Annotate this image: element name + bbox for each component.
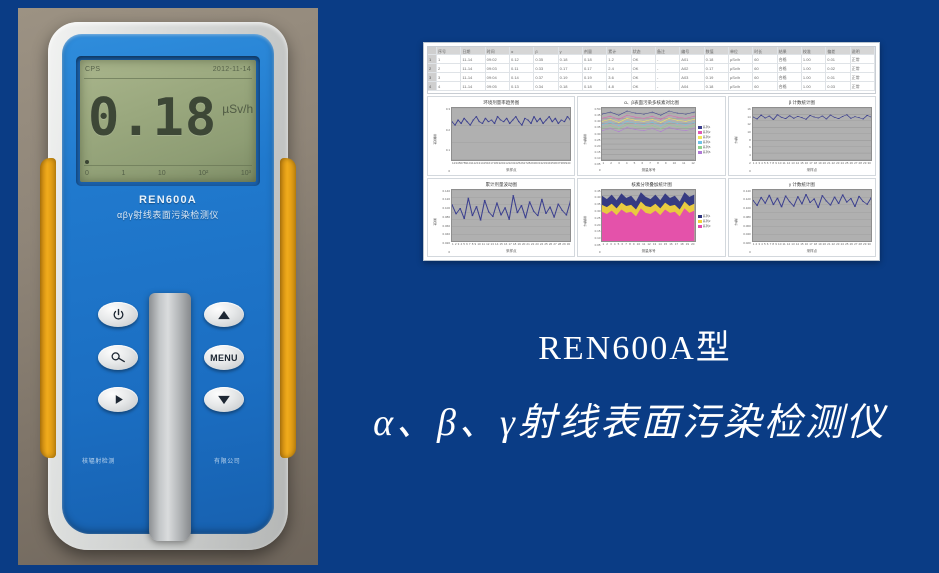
chart-legend-swatch — [698, 225, 702, 228]
table-cell[interactable]: 09:05 — [486, 82, 510, 90]
chart-y-axis-label: 剂量率 — [431, 107, 437, 173]
chart-y-tick: 0.100 — [738, 206, 751, 210]
table-cell[interactable]: 4.8 — [607, 82, 631, 90]
chart-legend-label: 系列2 — [703, 219, 711, 223]
chart-y-tick: 0 — [587, 250, 600, 254]
chart-x-axis-label: 测量序号 — [601, 167, 695, 173]
table-cell[interactable]: 0.19 — [705, 73, 729, 81]
table-cell[interactable]: A01 — [680, 55, 704, 63]
chart-y-tick: 0.020 — [738, 241, 751, 245]
table-cell[interactable]: 09:04 — [486, 73, 510, 81]
chart-title: 核素分项叠加统计图 — [581, 181, 721, 189]
chart-y-tick: 0 — [738, 250, 751, 254]
table-cell[interactable]: µSv/h — [729, 73, 753, 81]
table-cell[interactable]: µSv/h — [729, 55, 753, 63]
table-column-header[interactable]: 时间 — [486, 47, 510, 54]
chart-plot-area — [752, 189, 872, 243]
product-model-title: REN600A型 — [330, 320, 930, 369]
lcd-scale-tick: 1 — [121, 170, 125, 177]
chart-legend: 系列1系列2系列3系列4系列5系列6 — [696, 107, 722, 173]
table-cell[interactable]: 1.00 — [802, 55, 826, 63]
lcd-divider-bottom — [84, 165, 252, 166]
chart-y-ticks: 0.30.20.10 — [437, 107, 451, 173]
chart-card[interactable]: 核素分项叠加统计图计数率0.450.400.350.300.250.200.15… — [577, 178, 725, 258]
chart-x-axis-label: 采样点 — [451, 167, 571, 173]
table-cell[interactable]: 正常 — [851, 55, 875, 63]
table-cell[interactable]: 0.17 — [705, 64, 729, 72]
chart-y-tick: 0.3 — [437, 107, 450, 111]
table-cell[interactable]: 0.03 — [826, 82, 850, 90]
chart-card[interactable]: 环境剂量率趋势图剂量率0.30.20.101234567891011121314… — [427, 96, 575, 176]
chart-legend-swatch — [698, 136, 702, 139]
chart-legend-swatch — [698, 131, 702, 134]
table-row-header: 3 — [428, 73, 437, 81]
table-cell[interactable]: 1 — [437, 55, 461, 63]
chart-y-tick: 0.35 — [587, 125, 600, 129]
chart-y-tick: 0.20 — [587, 144, 600, 148]
table-cell[interactable]: 0.18 — [705, 55, 729, 63]
lcd-scale-tick: 10³ — [241, 170, 251, 177]
table-cell[interactable]: 0.02 — [826, 64, 850, 72]
table-column-header[interactable]: β — [534, 47, 558, 54]
chart-title: 累计剂量波动图 — [431, 181, 571, 189]
table-cell[interactable]: 0.18 — [559, 55, 583, 63]
table-column-header[interactable]: 编号 — [680, 47, 704, 54]
chart-legend-item[interactable]: 系列6 — [698, 150, 722, 154]
lcd-scale-tick: 0 — [85, 170, 89, 177]
chart-y-tick: 0 — [437, 250, 450, 254]
table-column-header[interactable]: 累计 — [607, 47, 631, 54]
chart-y-tick: 0.40 — [587, 195, 600, 199]
table-cell[interactable]: 11-14 — [461, 73, 485, 81]
chart-body: 剂量0.1400.1200.1000.0800.0600.0400.020012… — [431, 189, 571, 255]
table-cell[interactable]: 2.4 — [607, 64, 631, 72]
chart-legend-item[interactable]: 系列1 — [698, 125, 722, 129]
table-cell[interactable]: 正常 — [851, 82, 875, 90]
chart-y-tick: 0.20 — [587, 223, 600, 227]
table-column-header[interactable]: 单位 — [729, 47, 753, 54]
chart-plot-area — [451, 189, 571, 243]
table-column-header[interactable]: α — [510, 47, 534, 54]
chart-y-tick: 0.05 — [587, 243, 600, 247]
lcd-bezel: CPS 2012-11-14 0.18 µSv/h 011010²10³ — [76, 56, 260, 186]
table-column-header[interactable]: 剂量 — [583, 47, 607, 54]
chart-plot-wrap: 123456789101112测量序号 — [601, 107, 695, 173]
chart-title: 环境剂量率趋势图 — [431, 99, 571, 107]
table-row[interactable]: 3311-1409:040.140.370.190.193.6OK-A030.1… — [428, 73, 875, 82]
chart-y-tick: 0 — [738, 169, 751, 173]
table-column-header[interactable]: 说明 — [851, 47, 875, 54]
table-cell[interactable]: 0.01 — [826, 55, 850, 63]
chart-x-axis-label: 采样点 — [752, 167, 872, 173]
table-cell[interactable]: 09:03 — [486, 64, 510, 72]
chart-y-tick: 0.35 — [587, 202, 600, 206]
chart-y-tick: 0.10 — [587, 156, 600, 160]
table-column-header[interactable]: 时长 — [753, 47, 777, 54]
chart-legend-label: 系列4 — [703, 140, 711, 144]
chart-legend-label: 系列1 — [703, 214, 711, 218]
chart-y-tick: 16 — [738, 107, 751, 111]
chart-y-tick: 0.05 — [587, 162, 600, 166]
chart-y-ticks: 0.1400.1200.1000.0800.0600.0400.0200 — [437, 189, 451, 255]
table-cell[interactable]: OK — [632, 64, 656, 72]
lcd-indicator-dot — [85, 160, 89, 164]
table-row[interactable]: 4411-1409:050.130.340.180.184.8OK-A040.1… — [428, 82, 875, 91]
chart-y-tick: 0.2 — [437, 128, 450, 132]
table-cell[interactable]: 3 — [437, 73, 461, 81]
play-button[interactable] — [98, 387, 138, 412]
table-cell[interactable]: 11-14 — [461, 82, 485, 90]
charts-grid: 环境剂量率趋势图剂量率0.30.20.101234567891011121314… — [427, 96, 876, 257]
device-photo: CPS 2012-11-14 0.18 µSv/h 011010²10³ REN… — [18, 8, 318, 565]
table-cell[interactable]: 合格 — [778, 73, 802, 81]
table-cell[interactable]: 0.33 — [534, 64, 558, 72]
chart-y-tick: 0.060 — [738, 224, 751, 228]
chart-plot-area — [601, 107, 695, 161]
chart-legend-item[interactable]: 系列3 — [698, 224, 722, 228]
chart-y-tick: 0.140 — [437, 189, 450, 193]
chart-legend-swatch — [698, 146, 702, 149]
table-cell[interactable]: 0.13 — [510, 82, 534, 90]
table-row[interactable]: 1111-1409:020.120.350.180.181.2OK-A010.1… — [428, 55, 875, 64]
chart-y-tick: 10 — [738, 130, 751, 134]
chart-body: 计数0.1400.1200.1000.0800.0600.0400.020012… — [732, 189, 872, 255]
table-cell[interactable]: - — [656, 82, 680, 90]
chart-legend-item[interactable]: 系列5 — [698, 145, 722, 149]
chart-y-tick: 0.1 — [437, 148, 450, 152]
chart-y-tick: 0.50 — [587, 107, 600, 111]
chart-y-tick: 0.30 — [587, 132, 600, 136]
chart-y-ticks: 1614121086420 — [738, 107, 752, 173]
table-cell[interactable]: - — [656, 64, 680, 72]
chart-y-tick: 0.10 — [587, 236, 600, 240]
table-cell[interactable]: 11-14 — [461, 64, 485, 72]
device-model-sublabel: αβγ射线表面污染检测仪 — [66, 208, 270, 221]
chart-legend-label: 系列5 — [703, 145, 711, 149]
table-column-header[interactable]: 偏差 — [826, 47, 850, 54]
table-column-header[interactable]: 校准 — [802, 47, 826, 54]
table-header-row: 序号日期时间αβγ剂量累计状态备注编号数值单位时长结果校准偏差说明 — [428, 47, 875, 55]
chart-plot-wrap: 1234567891011121314151617181920212223242… — [451, 189, 571, 255]
table-cell[interactable]: - — [656, 55, 680, 63]
lcd-unit: µSv/h — [222, 102, 253, 116]
chart-card[interactable]: 累计剂量波动图剂量0.1400.1200.1000.0800.0600.0400… — [427, 178, 575, 258]
table-cell[interactable]: µSv/h — [729, 82, 753, 90]
table-row-header: 1 — [428, 55, 437, 63]
chart-legend-item[interactable]: 系列1 — [698, 214, 722, 218]
table-cell[interactable]: 60 — [753, 55, 777, 63]
product-description-title: α、β、γ射线表面污染检测仪 — [330, 391, 930, 446]
chart-y-tick: 0.30 — [587, 209, 600, 213]
software-screenshot-panel: 序号日期时间αβγ剂量累计状态备注编号数值单位时长结果校准偏差说明1111-14… — [423, 42, 880, 261]
table-cell[interactable]: 0.14 — [510, 73, 534, 81]
chart-y-tick: 0 — [587, 168, 600, 172]
table-column-header[interactable]: 备注 — [656, 47, 680, 54]
table-cell[interactable]: 合格 — [778, 82, 802, 90]
chart-plot-wrap: 1234567891011121314151617181920212223242… — [752, 107, 872, 173]
chart-y-tick: 0.15 — [587, 229, 600, 233]
title-block: REN600A型 α、β、γ射线表面污染检测仪 — [330, 320, 930, 446]
table-column-header[interactable]: 结果 — [778, 47, 802, 54]
chart-y-tick: 0.25 — [587, 138, 600, 142]
chart-y-axis-label: 计数率 — [581, 189, 587, 255]
chart-y-tick: 0.120 — [738, 197, 751, 201]
play-icon — [112, 393, 125, 406]
table-cell[interactable]: 1.00 — [802, 73, 826, 81]
chart-legend-swatch — [698, 151, 702, 154]
table-column-header[interactable]: 状态 — [632, 47, 656, 54]
power-icon — [112, 308, 125, 321]
table-cell[interactable]: 0.17 — [583, 64, 607, 72]
device-grip-left — [40, 158, 56, 458]
table-cell[interactable]: 0.17 — [559, 64, 583, 72]
chart-y-axis-label: 计数 — [732, 107, 738, 173]
chart-legend-label: 系列3 — [703, 135, 711, 139]
chart-title: α、β表面污染多核素对比图 — [581, 99, 721, 107]
lcd-reading: 0.18 µSv/h — [88, 82, 250, 154]
chart-y-axis-label: 计数率 — [581, 107, 587, 173]
table-cell[interactable]: 09:02 — [486, 55, 510, 63]
chart-y-axis-label: 计数 — [732, 189, 738, 255]
table-cell[interactable]: 0.18 — [583, 55, 607, 63]
table-cell[interactable]: OK — [632, 82, 656, 90]
lcd-status-bar: CPS 2012-11-14 — [85, 63, 251, 76]
table-cell[interactable]: 0.19 — [559, 73, 583, 81]
table-cell[interactable]: 1.00 — [802, 82, 826, 90]
chart-title: β 计数统计图 — [732, 99, 872, 107]
table-cell[interactable]: 0.35 — [534, 55, 558, 63]
chart-y-tick: 0.040 — [738, 232, 751, 236]
table-corner-cell — [428, 47, 437, 54]
table-cell[interactable]: A04 — [680, 82, 704, 90]
chart-card[interactable]: γ 计数统计图计数0.1400.1200.1000.0800.0600.0400… — [728, 178, 876, 258]
table-cell[interactable]: 0.19 — [583, 73, 607, 81]
lcd-screen: CPS 2012-11-14 0.18 µSv/h 011010²10³ — [80, 60, 256, 182]
table-row-header: 2 — [428, 64, 437, 72]
chart-body: 剂量率0.30.20.10123456789101112131415161718… — [431, 107, 571, 173]
triangle-up-icon — [217, 309, 231, 321]
chart-card[interactable]: α、β表面污染多核素对比图计数率0.500.450.400.350.300.25… — [577, 96, 725, 176]
chart-card[interactable]: β 计数统计图计数1614121086420123456789101112131… — [728, 96, 876, 176]
chart-y-tick: 0.140 — [738, 189, 751, 193]
chart-legend-item[interactable]: 系列4 — [698, 140, 722, 144]
chart-y-tick: 0.15 — [587, 150, 600, 154]
table-cell[interactable]: 4 — [437, 82, 461, 90]
table-cell[interactable]: 1.2 — [607, 55, 631, 63]
chart-legend-item[interactable]: 系列2 — [698, 219, 722, 223]
table-cell[interactable]: 1.00 — [802, 64, 826, 72]
table-cell[interactable]: 0.18 — [559, 82, 583, 90]
table-cell[interactable]: 0.11 — [510, 64, 534, 72]
table-cell[interactable]: OK — [632, 73, 656, 81]
up-button[interactable] — [204, 302, 244, 327]
magnifier-icon — [111, 351, 126, 364]
chart-legend-item[interactable]: 系列2 — [698, 130, 722, 134]
chart-title: γ 计数统计图 — [732, 181, 872, 189]
chart-y-tick: 2 — [738, 161, 751, 165]
chart-y-tick: 0.25 — [587, 216, 600, 220]
chart-y-tick: 0.080 — [738, 215, 751, 219]
chart-y-axis-label: 剂量 — [431, 189, 437, 255]
chart-legend-label: 系列1 — [703, 125, 711, 129]
table-cell[interactable]: 0.37 — [534, 73, 558, 81]
device-grip-right — [280, 158, 296, 458]
table-cell[interactable]: 0.12 — [510, 55, 534, 63]
table-cell[interactable]: A02 — [680, 64, 704, 72]
search-button[interactable] — [98, 345, 138, 370]
table-cell[interactable]: 0.01 — [826, 73, 850, 81]
table-cell[interactable]: 60 — [753, 73, 777, 81]
chart-legend-swatch — [698, 220, 702, 223]
chart-plot-area — [601, 189, 695, 243]
table-row-header: 4 — [428, 82, 437, 90]
chart-y-tick: 4 — [738, 153, 751, 157]
down-button[interactable] — [204, 387, 244, 412]
chart-y-tick: 0.040 — [437, 232, 450, 236]
chart-legend-label: 系列3 — [703, 224, 711, 228]
table-cell[interactable]: 2 — [437, 64, 461, 72]
table-cell[interactable]: 正常 — [851, 73, 875, 81]
chart-x-axis-label: 采样点 — [451, 248, 571, 254]
data-sheet-table[interactable]: 序号日期时间αβγ剂量累计状态备注编号数值单位时长结果校准偏差说明1111-14… — [427, 46, 876, 94]
chart-body: 计数率0.450.400.350.300.250.200.150.100.050… — [581, 189, 721, 255]
chart-legend-item[interactable]: 系列3 — [698, 135, 722, 139]
chart-y-tick: 6 — [738, 145, 751, 149]
power-button[interactable] — [98, 302, 138, 327]
chart-legend-swatch — [698, 141, 702, 144]
lcd-scale-tick: 10² — [198, 170, 208, 177]
chart-legend-swatch — [698, 126, 702, 129]
table-row[interactable]: 2211-1409:030.110.330.170.172.4OK-A020.1… — [428, 64, 875, 73]
chart-y-tick: 0.45 — [587, 189, 600, 193]
chart-y-tick: 8 — [738, 138, 751, 142]
chart-legend-label: 系列2 — [703, 130, 711, 134]
chart-legend: 系列1系列2系列3 — [696, 189, 722, 255]
table-column-header[interactable]: γ — [559, 47, 583, 54]
lcd-divider-top — [84, 78, 252, 79]
chart-y-ticks: 0.450.400.350.300.250.200.150.100.050 — [587, 189, 601, 255]
table-cell[interactable]: 0.34 — [534, 82, 558, 90]
device-footer-left: 核辐射检测 — [82, 456, 115, 465]
chart-y-tick: 14 — [738, 115, 751, 119]
triangle-down-icon — [217, 394, 231, 406]
chart-y-tick: 0.45 — [587, 113, 600, 117]
chart-y-tick: 0.120 — [437, 197, 450, 201]
chart-legend-label: 系列6 — [703, 150, 711, 154]
chart-x-axis-label: 采样点 — [752, 248, 872, 254]
chart-y-tick: 0.40 — [587, 119, 600, 123]
chart-y-tick: 0.100 — [437, 206, 450, 210]
table-cell[interactable]: 11-14 — [461, 55, 485, 63]
table-cell[interactable]: 合格 — [778, 55, 802, 63]
lcd-status-left: CPS — [85, 66, 100, 73]
chart-y-ticks: 0.500.450.400.350.300.250.200.150.100.05… — [587, 107, 601, 173]
chart-y-tick: 12 — [738, 122, 751, 126]
chart-plot-area — [451, 107, 571, 161]
table-column-header[interactable]: 序号 — [437, 47, 461, 54]
device-handle-strap — [149, 293, 191, 541]
table-cell[interactable]: 0.18 — [583, 82, 607, 90]
device-footer-right: 有限公司 — [214, 456, 240, 465]
menu-button-label: MENU — [210, 353, 238, 363]
chart-y-tick: 0.080 — [437, 215, 450, 219]
chart-body: 计数16141210864201234567891011121314151617… — [732, 107, 872, 173]
chart-x-axis-label: 测量序号 — [601, 248, 695, 254]
chart-y-tick: 0 — [437, 169, 450, 173]
table-cell[interactable]: 60 — [753, 82, 777, 90]
table-cell[interactable]: 60 — [753, 64, 777, 72]
chart-legend-swatch — [698, 215, 702, 218]
table-cell[interactable]: 正常 — [851, 64, 875, 72]
chart-plot-wrap: 1234567891011121314151617181920212223242… — [451, 107, 571, 173]
chart-body: 计数率0.500.450.400.350.300.250.200.150.100… — [581, 107, 721, 173]
table-cell[interactable]: 合格 — [778, 64, 802, 72]
table-column-header[interactable]: 日期 — [461, 47, 485, 54]
chart-plot-area — [752, 107, 872, 161]
lcd-value: 0.18 — [88, 92, 217, 144]
chart-y-ticks: 0.1400.1200.1000.0800.0600.0400.0200 — [738, 189, 752, 255]
lcd-scale-tick: 10 — [158, 170, 166, 177]
chart-y-tick: 0.020 — [437, 241, 450, 245]
table-cell[interactable]: - — [656, 73, 680, 81]
table-cell[interactable]: 0.18 — [705, 82, 729, 90]
chart-y-tick: 0.060 — [437, 224, 450, 228]
table-cell[interactable]: 3.6 — [607, 73, 631, 81]
lcd-status-right: 2012-11-14 — [213, 66, 251, 73]
chart-plot-wrap: 1234567891011121314151617181920测量序号 — [601, 189, 695, 255]
table-cell[interactable]: OK — [632, 55, 656, 63]
device-model-label: REN600A — [76, 194, 260, 206]
lcd-scale: 011010²10³ — [85, 167, 251, 180]
menu-button[interactable]: MENU — [204, 345, 244, 370]
chart-plot-wrap: 1234567891011121314151617181920212223242… — [752, 189, 872, 255]
table-column-header[interactable]: 数值 — [705, 47, 729, 54]
table-cell[interactable]: µSv/h — [729, 64, 753, 72]
table-cell[interactable]: A03 — [680, 73, 704, 81]
